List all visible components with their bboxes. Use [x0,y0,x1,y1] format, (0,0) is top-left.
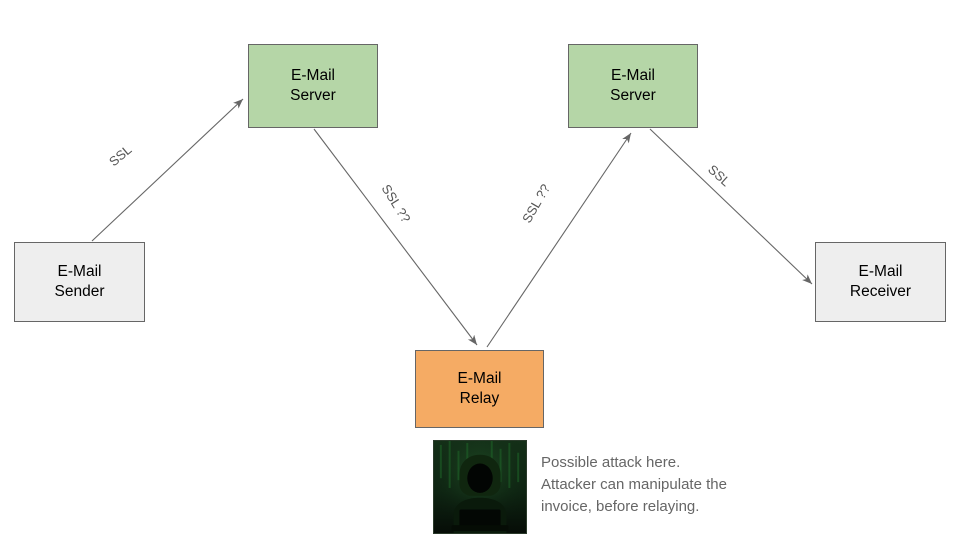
node-email-sender-line-1: E-Mail [58,262,102,282]
edge-label-server-2-to-receiver: SSL [705,162,733,190]
edge-label-sender-to-server-1: SSL [106,142,134,169]
node-email-server-2-line-2: Server [610,86,656,106]
edge-server-2-to-receiver [650,129,812,284]
node-email-sender[interactable]: E-Mail Sender [14,242,145,322]
node-email-server-1-line-2: Server [290,86,336,106]
attack-note-text: Possible attack here. Attacker can manip… [541,452,727,518]
hooded-attacker-laptop-image [433,440,527,534]
node-email-server-2[interactable]: E-Mail Server [568,44,698,128]
node-email-server-1-line-1: E-Mail [291,66,335,86]
edge-server-1-to-relay [314,129,477,345]
diagram-canvas: E-Mail Sender E-Mail Server E-Mail Serve… [0,0,960,540]
edge-sender-to-server-1 [92,99,243,241]
node-email-receiver[interactable]: E-Mail Receiver [815,242,946,322]
node-email-relay-line-1: E-Mail [458,369,502,389]
node-email-relay[interactable]: E-Mail Relay [415,350,544,428]
node-email-server-1[interactable]: E-Mail Server [248,44,378,128]
node-email-relay-line-2: Relay [460,389,500,409]
edge-relay-to-server-2 [487,133,631,347]
node-email-server-2-line-1: E-Mail [611,66,655,86]
node-email-receiver-line-1: E-Mail [859,262,903,282]
edge-label-server-1-to-relay: SSL ?? [379,182,414,226]
node-email-sender-line-2: Sender [55,282,105,302]
node-email-receiver-line-2: Receiver [850,282,911,302]
attack-note: Possible attack here. Attacker can manip… [433,440,727,534]
edge-label-relay-to-server-2: SSL ?? [519,181,553,225]
